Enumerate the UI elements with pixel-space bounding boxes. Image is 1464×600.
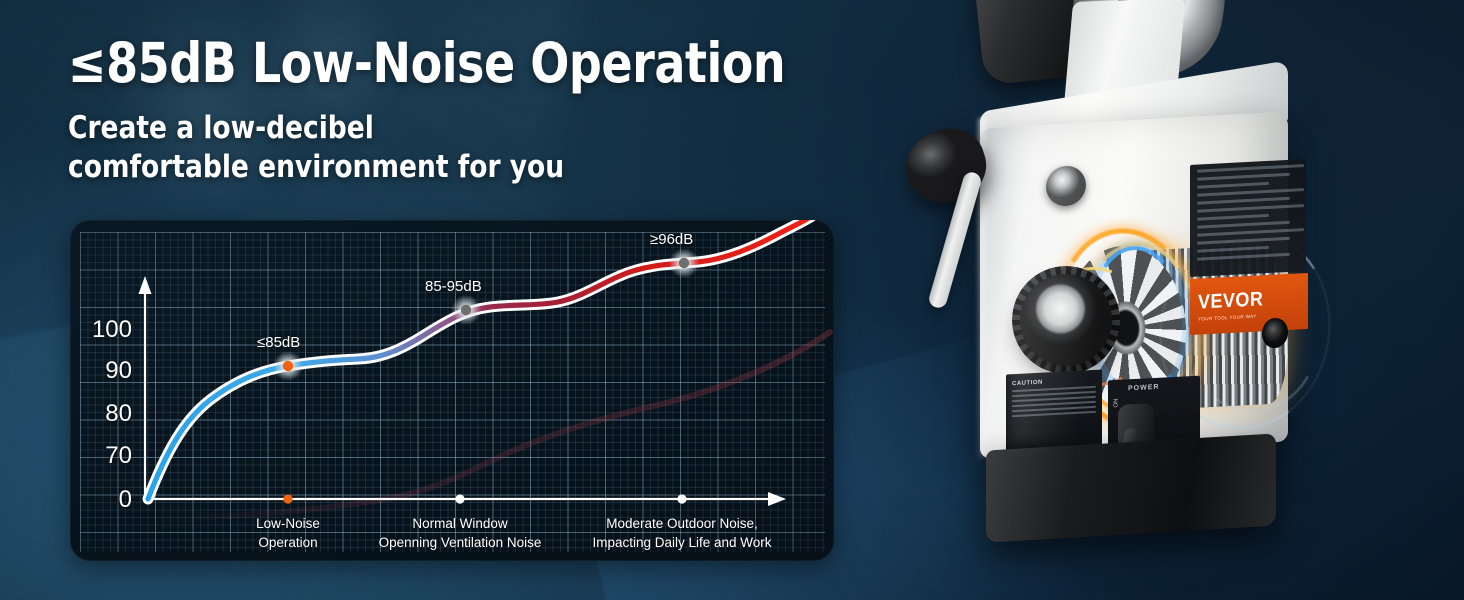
y-tick-100: 100 bbox=[70, 316, 132, 344]
promo-banner: ≤85dB Low-Noise Operation Create a low-d… bbox=[0, 0, 1464, 600]
xaxis-label-normal-window: Normal Window Openning Ventilation Noise bbox=[351, 514, 569, 552]
product-image: VEVOR YOUR TOOL YOUR WAY CAUTION POWER O… bbox=[860, 0, 1464, 600]
chart-panel: 100 90 80 70 0 ≤85dB 85-95dB ≥96dB Low-N… bbox=[70, 220, 834, 561]
chart-ghost-curve bbox=[150, 332, 830, 520]
y-tick-0: 0 bbox=[70, 486, 132, 514]
point-label-85db: ≤85dB bbox=[257, 334, 300, 351]
point-label-96db: ≥96dB bbox=[650, 231, 693, 248]
point-label-85-95db: 85-95dB bbox=[425, 278, 482, 295]
xaxis-label-low-noise-line1: Low-Noise bbox=[218, 514, 358, 533]
y-tick-80: 80 bbox=[70, 400, 132, 428]
y-tick-70: 70 bbox=[70, 442, 132, 470]
xaxis-label-moderate-outdoor: Moderate Outdoor Noise, Impacting Daily … bbox=[560, 514, 804, 552]
chart-marker-85-95db[interactable] bbox=[451, 295, 481, 325]
xaxis-label-normal-window-line1: Normal Window bbox=[351, 514, 569, 533]
xaxis-label-normal-window-line2: Openning Ventilation Noise bbox=[351, 533, 569, 552]
page-title: ≤85dB Low-Noise Operation bbox=[68, 36, 775, 91]
product-spec-label bbox=[1190, 159, 1306, 277]
subtitle-line-2: comfortable environment for you bbox=[68, 148, 790, 187]
xaxis-label-moderate-outdoor-line1: Moderate Outdoor Noise, bbox=[560, 514, 804, 533]
headline-block: ≤85dB Low-Noise Operation Create a low-d… bbox=[68, 36, 828, 188]
brand-name: VEVOR bbox=[1198, 288, 1263, 314]
subtitle: Create a low-decibel comfortable environ… bbox=[68, 109, 790, 188]
product-body-shine bbox=[1010, 106, 1180, 445]
xaxis-dot-moderate-outdoor[interactable] bbox=[677, 494, 686, 503]
chart-marker-85db[interactable] bbox=[273, 351, 303, 381]
brand-tagline: YOUR TOOL YOUR WAY bbox=[1198, 313, 1271, 322]
chart-curve bbox=[148, 220, 812, 499]
chart-marker-96db[interactable] bbox=[669, 248, 699, 278]
xaxis-dot-normal-window[interactable] bbox=[455, 494, 464, 503]
xaxis-label-moderate-outdoor-line2: Impacting Daily Life and Work bbox=[560, 533, 804, 552]
y-tick-90: 90 bbox=[70, 357, 132, 385]
product-brand-label: VEVOR YOUR TOOL YOUR WAY bbox=[1190, 273, 1308, 335]
subtitle-line-1: Create a low-decibel bbox=[68, 109, 790, 148]
xaxis-label-low-noise-line2: Operation bbox=[218, 533, 358, 552]
noise-level-line-chart bbox=[70, 220, 834, 561]
xaxis-label-low-noise: Low-Noise Operation bbox=[218, 514, 358, 552]
product-base bbox=[986, 433, 1276, 542]
xaxis-dot-low-noise[interactable] bbox=[283, 494, 292, 503]
